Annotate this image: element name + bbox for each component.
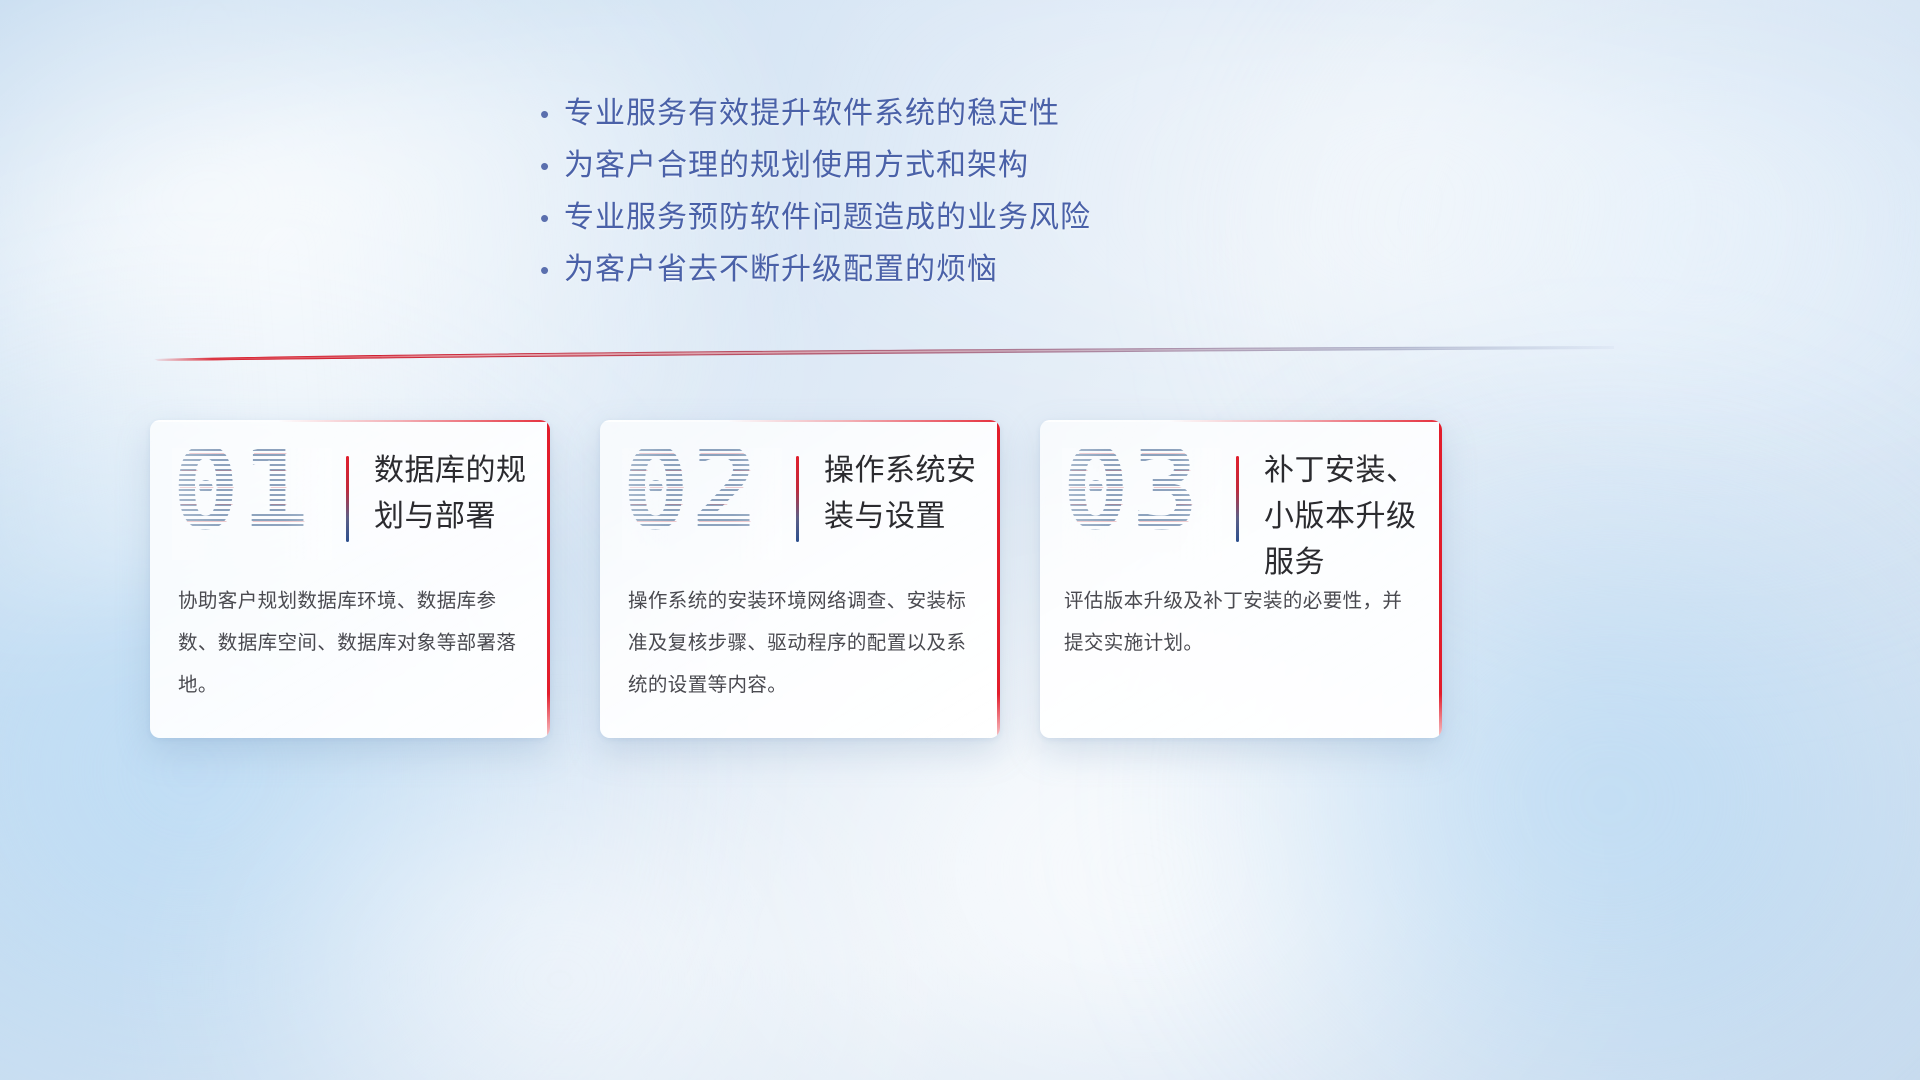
list-item: • 为客户省去不断升级配置的烦恼 bbox=[530, 244, 1390, 296]
card-top-accent-edge bbox=[1169, 420, 1442, 422]
card-title: 补丁安装、小版本升级服务 bbox=[1264, 448, 1434, 586]
card-number-watermark: 03 03 bbox=[1062, 448, 1222, 560]
card-title: 操作系统安装与设置 bbox=[824, 448, 984, 540]
card-body-text: 协助客户规划数据库环境、数据库参数、数据库空间、数据库对象等部署落地。 bbox=[178, 580, 524, 706]
card-accent-bar bbox=[796, 456, 799, 542]
card-title: 数据库的规划与部署 bbox=[374, 448, 534, 540]
card-top-accent-edge bbox=[278, 420, 550, 422]
card-right-accent-edge bbox=[547, 420, 550, 738]
bullet-dot-icon: • bbox=[530, 257, 564, 283]
card-top-accent-edge bbox=[728, 420, 1000, 422]
benefits-bullet-list: • 专业服务有效提升软件系统的稳定性 • 为客户合理的规划使用方式和架构 • 专… bbox=[530, 88, 1390, 296]
card-accent-bar bbox=[346, 456, 349, 542]
bullet-text: 专业服务预防软件问题造成的业务风险 bbox=[564, 192, 1091, 236]
card-number-watermark: 01 01 bbox=[172, 448, 332, 560]
bullet-text: 为客户合理的规划使用方式和架构 bbox=[564, 140, 1029, 184]
card-right-accent-edge bbox=[1439, 420, 1442, 738]
list-item: • 专业服务有效提升软件系统的稳定性 bbox=[530, 88, 1390, 140]
service-card[interactable]: 03 03 补丁安装、小版本升级服务 评估版本升级及补丁安装的必要性，并提交实施… bbox=[1040, 420, 1442, 738]
bullet-dot-icon: • bbox=[530, 205, 564, 231]
card-number-watermark-fade bbox=[622, 448, 782, 560]
bullet-text: 为客户省去不断升级配置的烦恼 bbox=[564, 244, 998, 288]
card-right-accent-edge bbox=[997, 420, 1000, 738]
bullet-dot-icon: • bbox=[530, 153, 564, 179]
bullet-text: 专业服务有效提升软件系统的稳定性 bbox=[564, 88, 1060, 132]
bullet-dot-icon: • bbox=[530, 101, 564, 127]
card-body-text: 操作系统的安装环境网络调查、安装标准及复核步骤、驱动程序的配置以及系统的设置等内… bbox=[628, 580, 974, 706]
service-card[interactable]: 02 02 操作系统安装与设置 操作系统的安装环境网络调查、安装标准及复核步骤、… bbox=[600, 420, 1000, 738]
list-item: • 专业服务预防软件问题造成的业务风险 bbox=[530, 192, 1390, 244]
card-body-text: 评估版本升级及补丁安装的必要性，并提交实施计划。 bbox=[1064, 580, 1420, 664]
service-card-list: 01 01 数据库的规划与部署 协助客户规划数据库环境、数据库参数、数据库空间、… bbox=[150, 420, 1770, 750]
card-accent-bar bbox=[1236, 456, 1239, 542]
service-card[interactable]: 01 01 数据库的规划与部署 协助客户规划数据库环境、数据库参数、数据库空间、… bbox=[150, 420, 550, 738]
card-number-watermark-fade bbox=[1062, 448, 1222, 560]
card-number-watermark-fade bbox=[172, 448, 332, 560]
card-number-watermark: 02 02 bbox=[622, 448, 782, 560]
slide-canvas: • 专业服务有效提升软件系统的稳定性 • 为客户合理的规划使用方式和架构 • 专… bbox=[0, 0, 1920, 1080]
list-item: • 为客户合理的规划使用方式和架构 bbox=[530, 140, 1390, 192]
